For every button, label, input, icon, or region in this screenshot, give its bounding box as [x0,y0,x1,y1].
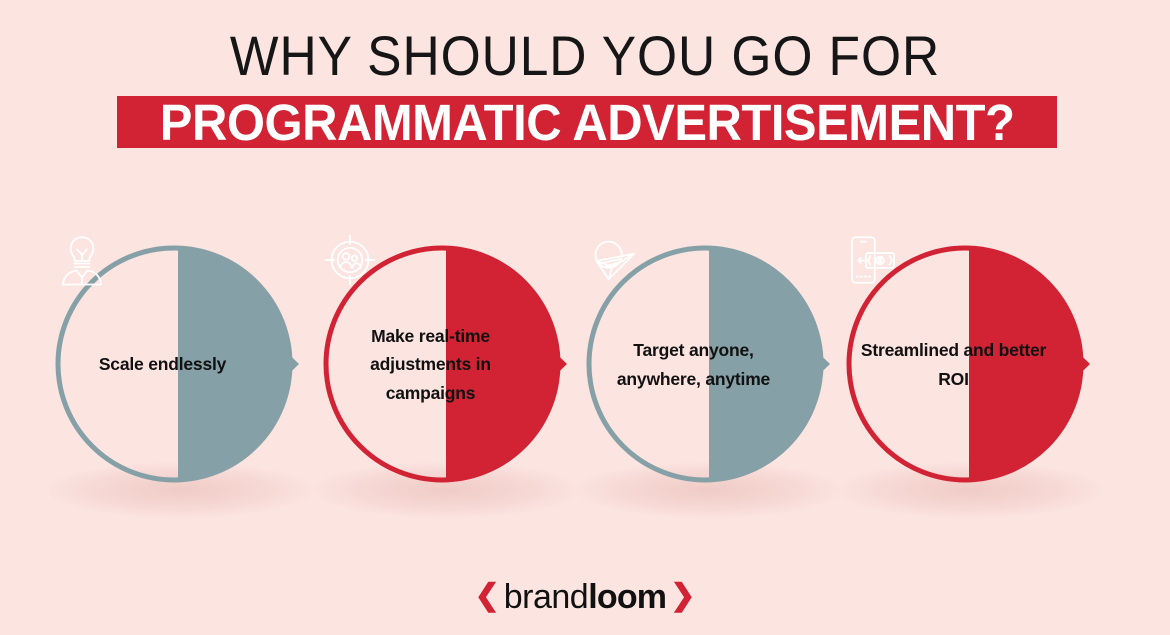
title-block: WHY SHOULD YOU GO FOR [0,0,1170,86]
logo-chevron-right-icon: ❯ [670,581,695,611]
process-step-1[interactable]: Scale endlessly [54,232,306,497]
process-step-4[interactable]: Streamlined and better ROI [845,232,1097,497]
process-step-3[interactable]: Target anyone, anywhere, anytime [585,232,837,497]
process-step-2[interactable]: Make real-time adjustments in campaigns [322,232,574,497]
logo-chevron-left-icon: ❮ [475,581,500,611]
person-lightbulb-idea-icon [54,232,110,288]
brandloom-logo[interactable]: ❮brandloom❯ [0,578,1170,617]
logo-word-loom: loom [588,578,666,617]
infographic-canvas: WHY SHOULD YOU GO FOR PROGRAMMATIC ADVER… [0,0,1170,635]
paper-plane-send-icon [585,232,641,288]
page-title-line-1: WHY SHOULD YOU GO FOR [47,0,1123,86]
title-highlight-band: PROGRAMMATIC ADVERTISEMENT? [117,96,1057,148]
process-flow: Scale endlessly [0,232,1170,502]
target-audience-icon [322,232,378,288]
page-title-line-2: PROGRAMMATIC ADVERTISEMENT? [160,93,1015,152]
logo-word-brand: brand [504,578,588,617]
mobile-money-payment-icon [845,232,901,288]
